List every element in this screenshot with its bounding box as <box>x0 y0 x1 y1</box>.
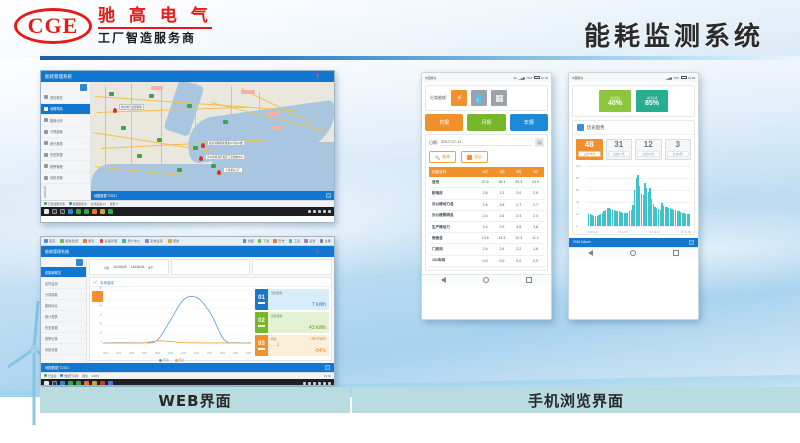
gauge-value: 40% <box>608 100 622 107</box>
web-sidebar: 总能耗概览 实时监测 分项能耗 › 能耗对比 › 统计报表 › <box>41 257 87 363</box>
calendar-icon[interactable]: ▤ <box>535 138 544 147</box>
tab-daily-report[interactable]: 日报 <box>425 114 463 131</box>
card-index: 03 <box>255 335 268 356</box>
x-tick-label: 07-09 13 <box>587 231 597 234</box>
range-tab-sub: 过去12月 <box>637 151 660 157</box>
phone-nav-bar[interactable] <box>422 274 551 286</box>
kpi-row: 2台 1610kVA 1610kVA 8个 <box>89 259 332 275</box>
kpi-value: 2台 <box>104 265 109 270</box>
phone-status-bar: 中国移动 4G ▁▃▅ 76% 12:28 <box>422 73 551 82</box>
export-icon <box>467 155 472 160</box>
cell-circuit-name: 生产楼动力 <box>429 221 477 232</box>
series-无功 <box>103 341 251 343</box>
y-axis-labels: 6050403020100 <box>91 287 103 345</box>
toolbar-item-2[interactable]: 历史 <box>273 239 284 243</box>
category-label: 分类能耗: <box>430 95 447 101</box>
range-tab-48h[interactable]: 48 过去48时 <box>576 139 603 160</box>
alarm-icon <box>44 164 48 168</box>
slide-header: CGE 驰 高 电 气 工厂智造服务商 能耗监测系统 <box>0 0 800 62</box>
y-tick-label: 10 <box>99 332 102 335</box>
cell-value: 2.6 <box>477 188 494 199</box>
x-tick-label: 0000 <box>103 352 108 355</box>
hist-x-axis: 07-09 1307-10 0107-10 1307-11 01 <box>587 231 691 234</box>
cell-value: 3.4 <box>477 221 494 232</box>
card-value-secondary: -84% <box>314 348 326 354</box>
phone-footer-bar: 2016 CAcrel <box>569 238 698 247</box>
phone-nav-bar[interactable] <box>569 247 698 259</box>
legend-swatch <box>159 359 162 362</box>
range-tab-number: 31 <box>607 141 632 150</box>
home-icon[interactable] <box>483 277 489 283</box>
sidebar-item-5[interactable]: 历史数据 › <box>41 150 90 162</box>
query-buttons: 🔍 查询 导出 <box>429 151 544 163</box>
map-marker-3[interactable] <box>217 170 221 175</box>
battery-icon <box>681 76 687 80</box>
col-header-name: 回路名称 <box>429 167 477 177</box>
cell-value: 11.1 <box>527 233 544 244</box>
gauge-value: 85% <box>645 100 659 107</box>
cell-circuit-name: 办公楼动力总 <box>429 199 477 210</box>
sidebar-item-label: 历史数据 <box>50 152 63 157</box>
web-footer-text: 地图数据 ©2017 <box>45 365 70 370</box>
x-tick-label: 1600 <box>207 352 212 355</box>
map-window[interactable]: 能耗管理系统 📍 👤 首页概览 › 地理导航 能耗 <box>40 70 335 223</box>
status-text: 刷新 <box>82 374 88 378</box>
user-icon[interactable]: 👤 <box>324 249 330 255</box>
card-index: 02 <box>255 312 268 333</box>
map-marker-label-3: 上海浦东分厂 <box>223 167 243 173</box>
kpi-card-2 <box>252 259 332 275</box>
y-tick-label: 60 <box>576 188 579 192</box>
browser-bookmark-bar[interactable]: 首页 能耗监测 报表 设备管理 用户中心 系统设置 帮助 收藏 下载 历史 工具… <box>41 237 334 246</box>
web-sidebar-item-6[interactable]: 报警记录 › <box>41 333 86 344</box>
web-sidebar-item-label: 分项能耗 <box>45 292 58 297</box>
card-index: 01 <box>255 289 268 310</box>
panel-header: 📈 负荷曲线 <box>90 278 331 287</box>
date-row: 日期: 2017-07-11 ▤ <box>429 138 544 147</box>
battery-percent: 76% <box>526 76 532 80</box>
gear-icon <box>44 176 48 180</box>
cell-value: 24.0 <box>527 177 544 188</box>
map-marker-label-1: 张家港保税区能源公司办公楼 <box>207 140 245 146</box>
cell-circuit-name: 宿舍总 <box>429 233 477 244</box>
web-app-header: 能耗管理系统 📍 👤 <box>41 246 334 257</box>
sidebar-item-label: 统计报表 <box>50 141 63 146</box>
cell-value: 2.1 <box>494 188 511 199</box>
range-tab-number: 48 <box>577 141 602 150</box>
phone-two[interactable]: 中国移动 ▁▃▅ 76% 12:28 今日同比 40% 本月完成 85% 历史趋… <box>568 72 699 320</box>
sidebar-item-2[interactable]: 能耗分析 › <box>41 115 90 127</box>
map-attribution: 地图数据 ©2017 <box>94 193 117 198</box>
kpi-value: 8个 <box>148 265 153 270</box>
recents-icon[interactable] <box>526 277 532 283</box>
web-sidebar-item-4[interactable]: 统计报表 › <box>41 311 86 322</box>
table-row[interactable]: 进线27.626.425.324.0 <box>429 177 544 188</box>
sidebar-item-label: 能耗分析 <box>50 118 63 123</box>
gauge-row: 今日同比 40% 本月完成 85% <box>572 85 695 117</box>
category-selector: 分类能耗: ⚡ 💧 ▦ <box>425 85 548 111</box>
col-header-h3: 3时 <box>527 167 544 177</box>
chevron-right-icon: › <box>81 292 82 296</box>
chevron-right-icon: › <box>86 118 87 122</box>
phone-one[interactable]: 中国移动 4G ▁▃▅ 76% 12:28 分类能耗: ⚡ 💧 ▦ 日报 月报 … <box>421 72 552 320</box>
map-body: 首页概览 › 地理导航 能耗分析 › 分项能耗 › <box>41 82 334 200</box>
cell-value: 2.9 <box>494 221 511 232</box>
history-icon <box>44 153 48 157</box>
status-text: 已连接服务器 <box>48 202 65 206</box>
chevron-right-icon: › <box>81 303 82 307</box>
x-tick-label: 1800 <box>220 352 225 355</box>
page-title: 能耗监测系统 <box>584 16 764 53</box>
cell-value: 3.8 <box>527 221 544 232</box>
table-row[interactable]: 办公楼动力总2.82.82.72.7 <box>429 199 544 210</box>
cell-value: 1.6 <box>527 244 544 255</box>
chart-legend: 有功无功 <box>90 358 253 362</box>
gauge-caption: 今日同比 <box>610 96 620 100</box>
web-sidebar-item-label: 系统设置 <box>45 347 58 352</box>
panel-title: 负荷曲线 <box>100 280 114 285</box>
signal-icon: ▁▃▅ <box>665 76 671 80</box>
sidebar-item-1[interactable]: 地理导航 <box>41 104 90 116</box>
line-chart-icon: 📈 <box>93 280 97 284</box>
toolbar-item-3[interactable]: 工具 <box>289 239 300 243</box>
web-sidebar-item-label: 总能耗概览 <box>45 270 61 275</box>
web-sidebar-item-5[interactable]: 历史数据 › <box>41 322 86 333</box>
web-sidebar-item-3[interactable]: 能耗对比 › <box>41 300 86 311</box>
y-tick-label: 80 <box>576 176 579 180</box>
bookmark-6[interactable]: 帮助 <box>168 239 179 243</box>
bookmark-0[interactable]: 首页 <box>44 239 55 243</box>
date-input[interactable]: 2017-07-11 <box>441 139 532 146</box>
caption-mobile: 手机浏览界面 <box>352 387 800 413</box>
map-marker-2[interactable] <box>199 156 203 161</box>
table-row[interactable]: 办公楼照明总2.42.42.42.4 <box>429 210 544 221</box>
x-tick-label: 07-10 01 <box>618 231 628 234</box>
cell-value: 2.7 <box>527 199 544 210</box>
location-icon[interactable]: 📍 <box>315 249 321 255</box>
cell-value: 2.4 <box>527 210 544 221</box>
gauge-card-0: 今日同比 40% <box>599 90 631 112</box>
clock-label: 15:42 <box>324 374 331 378</box>
os-taskbar[interactable] <box>41 207 334 216</box>
chevron-right-icon: › <box>86 141 87 145</box>
range-tab-31d[interactable]: 31 过去31天 <box>606 139 633 160</box>
x-tick-label: 2000 <box>233 352 238 355</box>
status-text: 已连接 <box>48 374 56 378</box>
cell-value: 2.7 <box>510 199 527 210</box>
gridline <box>587 226 691 227</box>
summary-card-2[interactable]: 03 同比 ↓ -38 kWh -84% <box>255 335 329 356</box>
chevron-right-icon: › <box>86 153 87 157</box>
kpi-card-0: 2台 1610kVA 1610kVA 8个 <box>89 259 169 275</box>
x-tick-label: 1400 <box>194 352 199 355</box>
web-sidebar-item-2[interactable]: 分项能耗 › <box>41 289 86 300</box>
map-expand-button[interactable] <box>326 193 331 198</box>
home-icon[interactable] <box>630 250 636 256</box>
cell-circuit-name: 办公楼照明总 <box>429 210 477 221</box>
map-marker-1[interactable] <box>201 143 205 148</box>
y-tick-label: 100 <box>576 164 581 168</box>
gauge-caption: 本月完成 <box>647 96 657 100</box>
load-curve-svg <box>103 289 251 345</box>
col-header-h1: 1时 <box>494 167 511 177</box>
status-text: 数据已同步 <box>64 374 78 378</box>
cell-value: 12.4 <box>510 233 527 244</box>
map-marker-label-2: 苏州张家港开发区工业配电中心 <box>205 154 245 160</box>
energy-table: 回路名称 0时 1时 2时 3时 进线27.626.425.324.0配电房2.… <box>429 167 544 267</box>
range-tab-3y[interactable]: 3 过去3年 <box>665 139 692 160</box>
sidebar-item-label: 地理导航 <box>50 106 63 111</box>
card-value: 43 kWh <box>309 325 326 331</box>
cell-circuit-name: 门房间 <box>429 244 477 255</box>
phone-footer-text: 2016 CAcrel <box>573 240 591 244</box>
chevron-right-icon: › <box>81 325 82 329</box>
map-pin-icon <box>44 107 48 111</box>
web-sidebar-item-7[interactable]: 系统设置 › <box>41 344 86 355</box>
web-sidebar-collapse-button[interactable] <box>76 259 83 266</box>
water-icon[interactable]: 💧 <box>471 90 487 106</box>
signal-icon: ▁▃▅ <box>518 76 524 80</box>
web-window[interactable]: 首页 能耗监测 报表 设备管理 用户中心 系统设置 帮助 收藏 下载 历史 工具… <box>40 236 335 386</box>
y-tick-label: 60 <box>99 287 102 290</box>
legend-item[interactable]: 有功 <box>159 358 169 362</box>
sidebar-item-label: 报警管理 <box>50 164 63 169</box>
table-row[interactable]: 配电房2.62.12.02.0 <box>429 188 544 199</box>
battery-icon <box>534 76 540 80</box>
cell-value: 2.8 <box>494 199 511 210</box>
web-sidebar-item-0[interactable]: 总能耗概览 <box>41 267 86 278</box>
range-tab-sub: 过去48时 <box>578 151 601 157</box>
recents-icon[interactable] <box>673 250 679 256</box>
gas-icon[interactable]: ▦ <box>491 90 507 106</box>
cell-value: 0.0 <box>527 255 544 266</box>
status-text: 报警 0 <box>110 202 118 206</box>
x-tick-label: 07-10 13 <box>650 231 660 234</box>
cell-value: 27.6 <box>477 177 494 188</box>
range-tab-sub: 过去31天 <box>608 151 631 157</box>
caption-web: WEB界面 <box>40 387 350 413</box>
chevron-right-icon: › <box>86 164 87 168</box>
tab-monthly-report[interactable]: 月报 <box>467 114 505 131</box>
cell-circuit-name: 配电房 <box>429 188 477 199</box>
cell-value: 26.4 <box>494 177 511 188</box>
col-header-h0: 0时 <box>477 167 494 177</box>
cell-value: 2.4 <box>477 210 494 221</box>
brand-company-name: 驰 高 电 气 <box>98 8 212 29</box>
cell-circuit-name: 进线 <box>429 177 477 188</box>
bookmark-1[interactable]: 能耗监测 <box>60 239 78 243</box>
cell-value: 13.6 <box>477 233 494 244</box>
toolbar-item-4[interactable]: 设置 <box>304 239 315 243</box>
map-canvas[interactable]: 驰高电气总部基地 张家港保税区能源公司办公楼 苏州张家港开发区工业配电中心 上海… <box>91 82 334 200</box>
range-tab-number: 3 <box>666 141 691 150</box>
back-icon[interactable] <box>588 250 593 256</box>
cell-value: 2.2 <box>510 244 527 255</box>
x-tick-label: 2200 <box>246 352 251 355</box>
summary-cards: 01 当日能耗 7 kWh 02 <box>253 287 331 361</box>
legend-label: 无功 <box>179 358 185 362</box>
battery-percent: 76% <box>673 76 679 80</box>
range-tab-number: 12 <box>636 141 661 150</box>
chevron-right-icon: › <box>86 176 87 180</box>
brand-tagline: 工厂智造服务商 <box>98 32 212 44</box>
search-icon: 🔍 <box>435 155 440 160</box>
load-curve-chart[interactable]: 6050403020100 00000200040006000800100012… <box>90 287 253 361</box>
gauge-card-1: 本月完成 85% <box>636 90 668 112</box>
report-icon <box>44 141 48 145</box>
table-row[interactable]: 宿舍总13.613.312.411.1 <box>429 233 544 244</box>
card-value: 7 kWh <box>312 302 326 308</box>
cell-value: 2.4 <box>477 244 494 255</box>
web-app-title: 能耗管理系统 <box>45 249 69 255</box>
y-tick-label: 30 <box>99 314 102 317</box>
os-taskbar[interactable] <box>41 379 334 386</box>
network-label: 4G <box>513 76 517 80</box>
web-sidebar-item-label: 统计报表 <box>45 314 58 319</box>
user-icon[interactable]: 👤 <box>324 74 330 80</box>
phone-status-bar: 中国移动 ▁▃▅ 76% 12:28 <box>569 73 698 82</box>
cell-value: 2.4 <box>494 244 511 255</box>
toolbar-item-1[interactable]: 下载 <box>258 239 269 243</box>
back-icon[interactable] <box>441 277 446 283</box>
web-sidebar-item-label: 实时监测 <box>45 281 58 286</box>
y-tick-label: 20 <box>99 323 102 326</box>
cell-value: 2.4 <box>494 210 511 221</box>
x-tick-label: 1200 <box>181 352 186 355</box>
summary-card-1[interactable]: 02 当月能耗 43 kWh <box>255 312 329 333</box>
range-tabs: 48 过去48时 31 过去31天 12 过去12月 3 过去3年 <box>573 135 694 162</box>
web-main: 2台 1610kVA 1610kVA 8个 📈 负荷曲线 <box>87 257 334 363</box>
x-tick-label: 0600 <box>142 352 147 355</box>
y-tick-label: 40 <box>99 305 102 308</box>
cell-value: 0.0 <box>494 255 511 266</box>
y-tick-label: 40 <box>576 200 579 204</box>
sidebar-item-0[interactable]: 首页概览 › <box>41 92 90 104</box>
sidebar-item-4[interactable]: 统计报表 › <box>41 138 90 150</box>
web-body: 总能耗概览 实时监测 分项能耗 › 能耗对比 › 统计报表 › <box>41 257 334 363</box>
x-tick-label: 0800 <box>155 352 160 355</box>
cell-value: 2.0 <box>527 188 544 199</box>
map-window-titlebar: 能耗管理系统 📍 👤 <box>41 71 334 82</box>
brand-logo: CGE 驰 高 电 气 工厂智造服务商 <box>14 8 212 44</box>
sidebar-item-3[interactable]: 分项能耗 › <box>41 127 90 139</box>
cell-value: 0.0 <box>510 255 527 266</box>
sidebar-collapse-button[interactable] <box>80 84 87 91</box>
table-header-row: 回路名称 0时 1时 2时 3时 <box>429 167 544 177</box>
web-expand-button[interactable] <box>325 365 330 370</box>
grid-icon <box>44 130 48 134</box>
date-label: 日期: <box>429 140 438 146</box>
chevron-right-icon: › <box>86 95 87 99</box>
cell-value: 2.8 <box>477 199 494 210</box>
chevron-right-icon: › <box>81 314 82 318</box>
cell-value: 13.3 <box>494 233 511 244</box>
bookmark-3[interactable]: 设备管理 <box>100 239 118 243</box>
web-status-strip: 已连接 数据已同步 刷新 100% 15:42 <box>41 372 334 379</box>
map-marker-0[interactable] <box>113 108 117 113</box>
cell-value: 2.0 <box>510 188 527 199</box>
tab-yearly-report[interactable]: 年报 <box>510 114 548 131</box>
card-title: 当月能耗 <box>271 314 326 318</box>
load-curve-panel: 📈 负荷曲线 6050403020100 0000020004000600080… <box>89 277 332 361</box>
cell-value: 2.4 <box>510 210 527 221</box>
x-tick-label: 07-11 01 <box>681 231 691 234</box>
y-tick-label: 20 <box>576 212 579 216</box>
chevron-right-icon: › <box>86 130 87 134</box>
clock-label: 12:28 <box>688 76 695 80</box>
web-sidebar-item-1[interactable]: 实时监测 <box>41 278 86 289</box>
export-button[interactable]: 导出 <box>461 151 488 163</box>
x-tick-label: 0200 <box>116 352 121 355</box>
bookmark-5[interactable]: 系统设置 <box>145 239 163 243</box>
card-value: -38 kWh <box>310 336 326 341</box>
arrow-down-icon: ↓ <box>276 339 280 348</box>
history-bar-chart[interactable]: 100806040200 07-09 1307-10 0107-10 1307-… <box>576 164 691 234</box>
status-text: 数据刷新中 <box>73 202 87 206</box>
cell-value: 3.5 <box>510 221 527 232</box>
summary-card-0[interactable]: 01 当日能耗 7 kWh <box>255 289 329 310</box>
x-tick-label: 1000 <box>168 352 173 355</box>
web-sidebar-item-label: 报警记录 <box>45 336 58 341</box>
table-row[interactable]: 门房间2.42.42.21.6 <box>429 244 544 255</box>
bookmark-2[interactable]: 报表 <box>83 239 94 243</box>
electricity-icon[interactable]: ⚡ <box>451 90 467 106</box>
bar-chart-icon <box>577 124 584 131</box>
y-tick-label: 50 <box>99 296 102 299</box>
hist-bars <box>588 166 690 226</box>
sidebar-item-7[interactable]: 系统设置 › <box>41 173 90 185</box>
cell-value: 25.3 <box>510 177 527 188</box>
web-sidebar-item-label: 能耗对比 <box>45 303 58 308</box>
map-footer-bar: 地图数据 ©2017 <box>91 191 334 200</box>
cell-circuit-name: 102车间 <box>429 255 477 266</box>
toolbar-item-0[interactable]: 收藏 <box>243 239 254 243</box>
phone-expand-button[interactable] <box>689 240 694 245</box>
toolbar-item-5[interactable]: 全屏 <box>320 239 331 243</box>
sidebar-item-label: 首页概览 <box>50 95 63 100</box>
cell-value: 0.0 <box>477 255 494 266</box>
bar <box>688 214 689 225</box>
chevron-right-icon: › <box>81 347 82 351</box>
query-button[interactable]: 🔍 查询 <box>429 151 456 163</box>
bookmark-4[interactable]: 用户中心 <box>122 239 140 243</box>
clock-label: 12:28 <box>541 76 548 80</box>
trend-title: 历史趋势 <box>587 125 605 131</box>
web-footer-bar: 地图数据 ©2017 <box>41 363 334 372</box>
carrier-label: 中国移动 <box>572 76 583 80</box>
slide-canvas: CGE 驰 高 电 气 工厂智造服务商 能耗监测系统 能耗管理系统 📍 👤 首页… <box>0 0 800 443</box>
sidebar-item-label: 系统设置 <box>50 175 63 180</box>
sidebar-item-6[interactable]: 报警管理 › <box>41 161 90 173</box>
analytics-icon <box>44 118 48 122</box>
table-row[interactable]: 生产楼动力3.42.93.53.8 <box>429 221 544 232</box>
sidebar-version-label: 版本信息 <box>43 186 47 198</box>
kpi-value: 1610kVA <box>113 265 127 269</box>
legend-swatch <box>175 359 178 362</box>
header-divider <box>40 56 800 60</box>
legend-item[interactable]: 无功 <box>175 358 185 362</box>
y-tick-label: 0 <box>101 341 102 344</box>
legend-label: 有功 <box>163 358 169 362</box>
query-panel: 日期: 2017-07-11 ▤ 🔍 查询 导出 回路名称 0时 <box>425 134 548 271</box>
location-icon[interactable]: 📍 <box>315 74 321 80</box>
chevron-right-icon: › <box>81 336 82 340</box>
map-status-strip: 已连接服务器 数据刷新中 在线设备 24 报警 0 <box>41 200 334 207</box>
table-row[interactable]: 102车间0.00.00.00.0 <box>429 255 544 266</box>
status-text: 100% <box>92 374 99 378</box>
range-tab-12m[interactable]: 12 过去12月 <box>635 139 662 160</box>
kpi-card-1 <box>171 259 251 275</box>
